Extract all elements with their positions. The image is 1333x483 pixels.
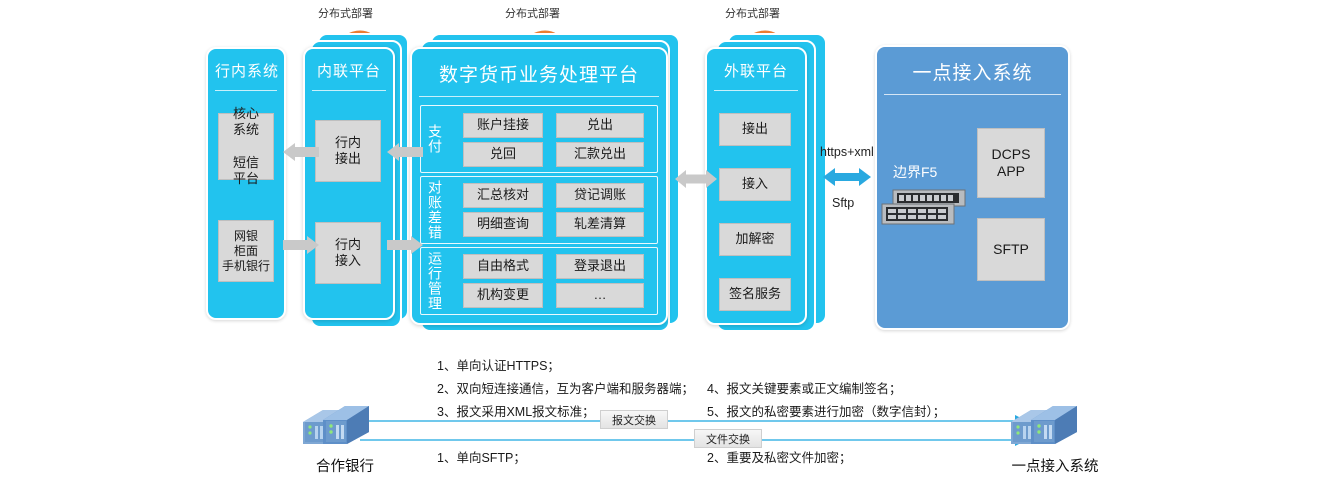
- core-group-reconciliation-label: 对账差错: [425, 179, 445, 241]
- bank-system-box-core: 核心 系统 短信 平台: [218, 113, 274, 180]
- core-item-payment-1: 兑出: [556, 113, 644, 138]
- core-platform-title: 数字货币业务处理平台: [419, 49, 659, 97]
- core-item-operations-0: 自由格式: [463, 254, 543, 279]
- external-platform-title: 外联平台: [714, 49, 798, 91]
- arrow-intranet-to-core-icon: [387, 236, 423, 254]
- access-system-server-icon: [1005, 400, 1085, 448]
- core-item-reconciliation-2: 明细查询: [463, 212, 543, 237]
- intranet-box-out: 行内 接出: [315, 120, 381, 182]
- message-note-2: 2、双向短连接通信，互为客户端和服务器端；: [437, 378, 694, 397]
- external-box-crypto: 加解密: [719, 223, 791, 256]
- access-box-sftp: SFTP: [977, 218, 1045, 281]
- intranet-box-in: 行内 接入: [315, 222, 381, 284]
- file-note-1: 1、单向SFTP；: [437, 447, 526, 466]
- exchange-label-file: 文件交换: [694, 429, 762, 448]
- f5-appliance-icon: [880, 188, 968, 228]
- arrow-core-to-intranet-icon: [387, 143, 423, 161]
- external-box-signature: 签名服务: [719, 278, 791, 311]
- exchange-label-message: 报文交换: [600, 410, 668, 429]
- file-note-2: 2、重要及私密文件加密；: [707, 447, 851, 466]
- access-box-dcps-app: DCPS APP: [977, 128, 1045, 198]
- external-box-in: 接入: [719, 168, 791, 201]
- distributed-label-intranet: 分布式部署: [318, 5, 373, 21]
- core-group-operations-label: 运行管理: [425, 250, 445, 312]
- protocol-label-https: https+xml: [820, 145, 874, 159]
- core-item-payment-0: 账户挂接: [463, 113, 543, 138]
- intranet-platform-title: 内联平台: [312, 49, 386, 91]
- message-note-4: 4、报文关键要素或正文编制签名；: [707, 378, 901, 397]
- bank-system-box-channels: 网银 柜面 手机银行: [218, 220, 274, 282]
- architecture-diagram: 分布式部署 分布式部署 分布式部署 行内系统 核心 系统 短信 平台 网银 柜面…: [0, 0, 1333, 483]
- core-group-payment-label: 支付: [425, 112, 445, 166]
- core-item-operations-3: …: [556, 283, 644, 308]
- partner-bank-server-icon: [297, 400, 369, 448]
- core-item-reconciliation-3: 轧差清算: [556, 212, 644, 237]
- message-note-1: 1、单向认证HTTPS；: [437, 355, 560, 374]
- link-arrow-bidirectional-icon: [823, 167, 871, 187]
- f5-label: 边界F5: [893, 162, 937, 182]
- core-item-payment-2: 兑回: [463, 142, 543, 167]
- distributed-label-external: 分布式部署: [725, 5, 780, 21]
- access-system-server-label: 一点接入系统: [995, 455, 1115, 476]
- core-item-operations-2: 机构变更: [463, 283, 543, 308]
- arrow-bank-to-intranet-icon: [283, 236, 319, 254]
- exchange-connector-lines: [300, 412, 1060, 452]
- core-item-payment-3: 汇款兑出: [556, 142, 644, 167]
- core-item-reconciliation-0: 汇总核对: [463, 183, 543, 208]
- arrow-core-external-bidirectional-icon: [675, 170, 717, 188]
- external-box-out: 接出: [719, 113, 791, 146]
- core-item-reconciliation-1: 贷记调账: [556, 183, 644, 208]
- core-item-operations-1: 登录退出: [556, 254, 644, 279]
- access-system-title: 一点接入系统: [884, 47, 1061, 95]
- arrow-intranet-to-bank-icon: [283, 143, 319, 161]
- protocol-label-sftp: Sftp: [832, 196, 854, 210]
- partner-bank-label: 合作银行: [295, 455, 395, 476]
- distributed-label-core: 分布式部署: [505, 5, 560, 21]
- bank-system-title: 行内系统: [215, 49, 277, 91]
